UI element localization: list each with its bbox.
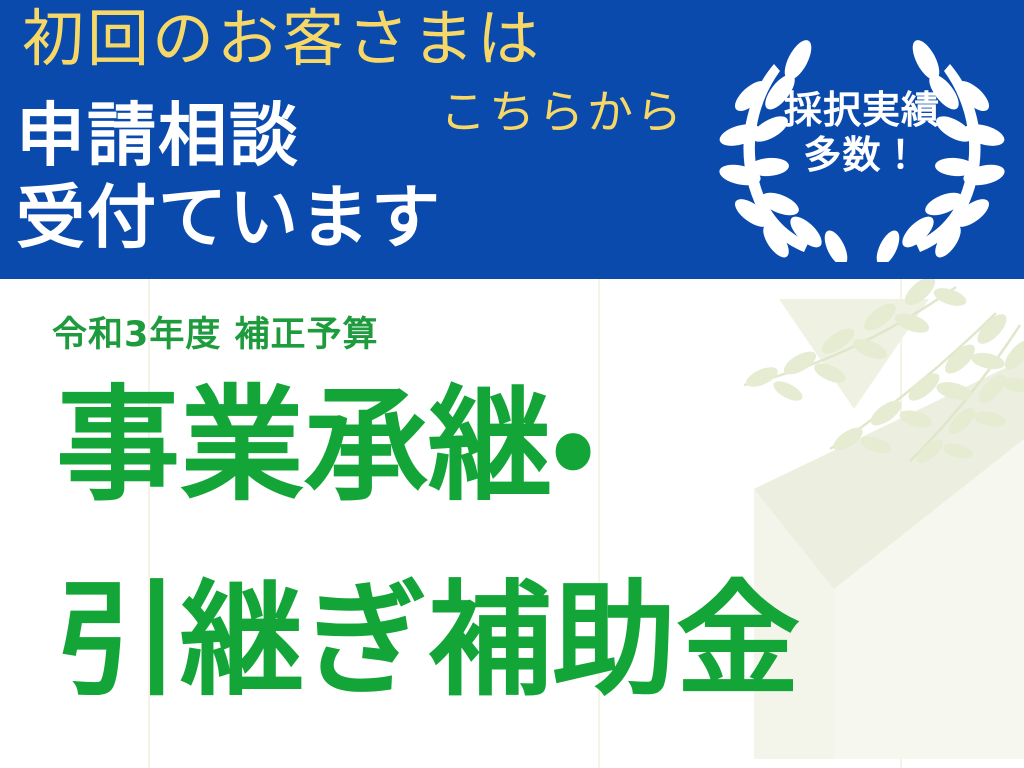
main-title-line1: 事業承継・ (56, 384, 594, 508)
badge-label-adoption-record: 採択実績 (714, 88, 1010, 133)
fiscal-year-subheading: 令和3年度 補正予算 (52, 306, 379, 357)
headline-accepting-now: 受付ています (16, 183, 442, 253)
badge-label-many: 多数！ (714, 133, 1010, 178)
headline-application-consultation: 申請相談 (16, 101, 300, 171)
badge-text-group: 採択実績 多数！ (714, 88, 1010, 178)
subheadline-from-here: こちらから (440, 88, 685, 136)
main-title-line2: 引継ぎ補助金 (56, 579, 800, 703)
headline-first-time-customers: 初回のお客さまは (22, 6, 542, 73)
top-blue-band: 初回のお客さまは こちらから 申請相談 受付ています (0, 0, 1024, 279)
leaf-sprig-decoration (734, 279, 1024, 463)
promotional-banner: 初回のお客さまは こちらから 申請相談 受付ています (0, 0, 1024, 768)
achievement-badge: 採択実績 多数！ (714, 34, 1010, 262)
lower-content-area: 令和3年度 補正予算 事業承継・ 引継ぎ補助金 (0, 279, 1024, 768)
